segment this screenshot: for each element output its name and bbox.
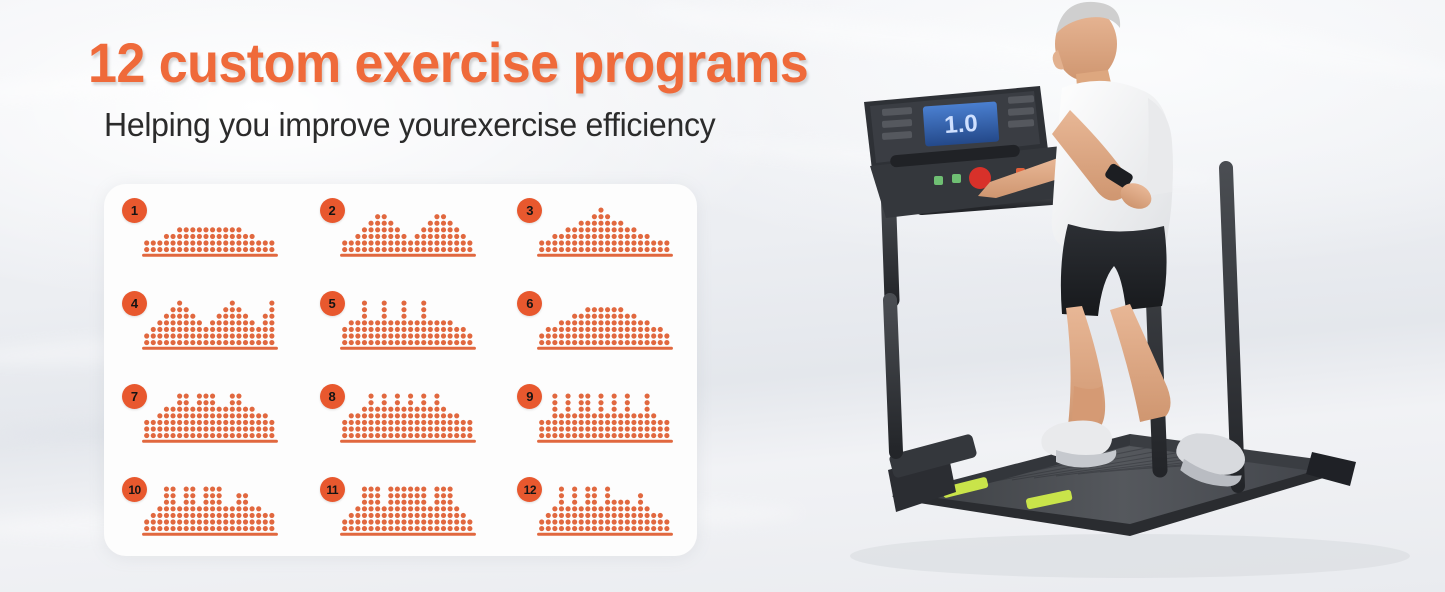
program-3[interactable]: 3 (499, 184, 697, 277)
programs-card: 123456789101112 (104, 184, 697, 556)
program-profile-chart (140, 192, 280, 264)
program-5[interactable]: 5 (302, 277, 500, 370)
program-profile-chart (535, 285, 675, 357)
treadmill-product-image: 1.0 (830, 0, 1445, 592)
page-subtitle: Helping you improve yourexercise efficie… (104, 106, 715, 144)
page-title: 12 custom exercise programs (88, 30, 808, 95)
program-profile-chart (338, 285, 478, 357)
floor-shadow (850, 534, 1410, 578)
program-7[interactable]: 7 (104, 370, 302, 463)
program-9[interactable]: 9 (499, 370, 697, 463)
program-profile-chart (140, 378, 280, 450)
program-4[interactable]: 4 (104, 277, 302, 370)
program-1[interactable]: 1 (104, 184, 302, 277)
program-profile-chart (140, 471, 280, 543)
program-profile-chart (535, 378, 675, 450)
program-10[interactable]: 10 (104, 463, 302, 556)
program-8[interactable]: 8 (302, 370, 500, 463)
person-walking (978, 2, 1252, 493)
treadmill-console: 1.0 (864, 86, 1074, 218)
program-profile-chart (338, 192, 478, 264)
program-profile-chart (140, 285, 280, 357)
treadmill-deck (888, 433, 1356, 536)
program-11[interactable]: 11 (302, 463, 500, 556)
program-6[interactable]: 6 (499, 277, 697, 370)
programs-grid: 123456789101112 (104, 184, 697, 556)
program-profile-chart (338, 378, 478, 450)
program-2[interactable]: 2 (302, 184, 500, 277)
program-12[interactable]: 12 (499, 463, 697, 556)
console-display-value: 1.0 (943, 110, 978, 139)
program-profile-chart (535, 192, 675, 264)
program-profile-chart (338, 471, 478, 543)
program-profile-chart (535, 471, 675, 543)
